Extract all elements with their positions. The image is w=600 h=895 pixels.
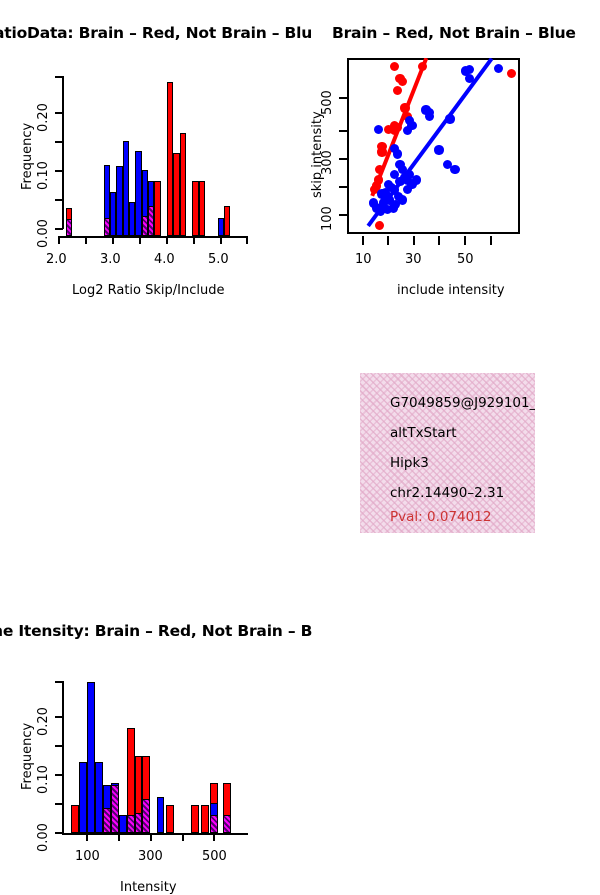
scatter-point [393,149,402,158]
hist-intensity-ytick-1: 0.10 [36,765,51,794]
scatter-point [412,175,421,184]
hist-intensity-xtick-2: 500 [202,849,227,864]
scatter-xlabel: include intensity [397,283,505,298]
figure-canvas: atioData: Brain – Red, Not Brain – Blu F… [0,0,600,600]
hist-intensity-title: ne Itensity: Brain – Red, Not Brain – B [0,622,312,640]
x-tick [213,833,215,841]
hist-ratio-ytick-2: 0.20 [36,103,51,132]
histogram-bar-overlap [223,815,231,833]
histogram-bar-not-brain [87,682,95,833]
y-tick [55,170,63,172]
scatter-ytick-2: 500 [320,90,335,115]
y-tick [55,199,63,201]
x-tick [413,236,415,245]
scatter-point [425,112,434,121]
histogram-bar-brain [191,805,199,833]
x-tick [220,236,222,244]
histogram-bar-brain [180,133,186,236]
hist-ratio-xtick-2: 4.0 [154,252,175,267]
scatter-point [375,221,384,230]
scatter-point [434,145,443,154]
scatter-point [390,62,399,71]
panel-hist-ratio: atioData: Brain – Red, Not Brain – Blu F… [0,0,300,300]
x-tick [362,236,364,245]
x-tick [85,236,87,244]
x-tick [166,236,168,244]
hist-ratio-xtick-0: 2.0 [46,252,67,267]
hist-intensity-ytick-0: 0.00 [36,823,51,852]
hist-ratio-ylabel: Frequency [20,123,35,190]
scatter-point [377,147,386,156]
scatter-point [494,64,503,73]
y-tick [55,716,63,718]
y-tick [55,774,63,776]
y-tick [55,228,63,230]
scatter-point [395,177,404,186]
x-tick [58,236,60,244]
scatter-point [403,126,412,135]
scatter-xtick-1: 30 [405,252,422,267]
histogram-bar-not-brain [95,762,103,833]
scatter-ytick-1: 300 [320,150,335,175]
scatter-point [450,165,459,174]
scatter-ytick-0: 100 [320,206,335,231]
scatter-point [398,77,407,86]
info-gene-name: Hipk3 [390,455,429,471]
x-tick [387,236,389,245]
scatter-point [507,69,516,78]
hist-intensity-xlabel: Intensity [120,880,177,895]
y-tick [55,745,63,747]
hist-ratio-xtick-1: 3.0 [100,252,121,267]
scatter-title: Brain – Red, Not Brain – Blue [332,24,576,42]
hist-ratio-ytick-1: 0.10 [36,161,51,190]
x-tick [150,833,152,841]
x-tick [490,236,492,245]
x-tick [118,833,120,841]
x-tick [112,236,114,244]
histogram-bar-overlap [135,813,143,833]
hist-ratio-title: atioData: Brain – Red, Not Brain – Blu [0,24,312,42]
hist-intensity-yaxis [62,681,64,833]
hist-ratio-xtick-3: 5.0 [208,252,229,267]
histogram-bar-brain [154,181,160,236]
histogram-bar-brain [199,181,205,236]
scatter-point [375,165,384,174]
histogram-bar-not-brain [157,797,165,833]
histogram-bar-overlap [66,219,72,236]
scatter-xtick-2: 50 [457,252,474,267]
histogram-bar-not-brain [119,815,127,833]
histogram-bar-overlap [111,785,119,833]
scatter-point [369,198,378,207]
y-tick [55,76,63,78]
scatter-point [393,86,402,95]
panel-scatter: Brain – Red, Not Brain – Blue skip inten… [300,0,600,300]
info-probe-id: G7049859@J929101_RC [390,395,535,411]
hist-intensity-xtick-1: 300 [138,849,163,864]
x-tick [182,833,184,841]
hist-ratio-yaxis [62,76,64,229]
histogram-bar-brain [166,805,174,833]
x-tick [86,833,88,841]
histogram-bar-overlap [142,799,150,833]
hist-ratio-xlabel: Log2 Ratio Skip/Include [72,283,224,298]
hist-ratio-ytick-0: 0.00 [36,219,51,248]
histogram-bar-overlap [127,815,135,833]
x-tick [246,236,248,244]
info-locus: chr2.14490–2.31 [390,485,504,501]
scatter-point [445,114,454,123]
y-tick [55,141,63,143]
y-tick [55,803,63,805]
scatter-point [374,125,383,134]
scatter-points [347,58,520,234]
hist-intensity-xaxis [62,833,248,835]
histogram-bar-overlap [210,815,218,833]
info-event-type: altTxStart [390,425,457,441]
x-tick [139,236,141,244]
histogram-bar-not-brain [79,762,87,833]
hist-intensity-xtick-0: 100 [75,849,100,864]
hist-intensity-ylabel: Frequency [20,723,35,790]
y-tick [55,681,63,683]
hist-intensity-ytick-2: 0.20 [36,707,51,736]
info-pval: Pval: 0.074012 [390,509,491,525]
scatter-xtick-0: 10 [355,252,372,267]
x-tick [438,236,440,245]
gene-info-box: G7049859@J929101_RC altTxStart Hipk3 chr… [360,373,535,533]
histogram-bar-brain [201,805,209,833]
scatter-point [418,62,427,71]
y-tick [55,112,63,114]
histogram-bar-overlap [103,808,111,833]
panel-hist-intensity: ne Itensity: Brain – Red, Not Brain – B … [0,300,300,600]
histogram-bar-brain [224,206,230,236]
x-tick [193,236,195,244]
histogram-bar-brain [71,805,79,833]
x-tick [464,236,466,245]
